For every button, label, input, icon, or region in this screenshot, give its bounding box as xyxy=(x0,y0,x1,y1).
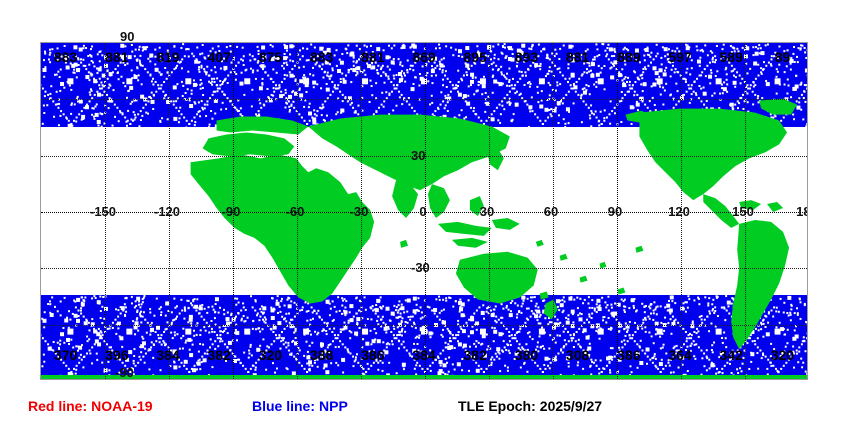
map-latitude-label: -30 xyxy=(411,261,430,274)
map-canvas[interactable]: -300306090120150180-150-120-90-6030-30 xyxy=(40,42,808,380)
map-longitude-label: -150 xyxy=(90,205,116,218)
swath-speckle-north xyxy=(41,43,807,127)
map-longitude-label: 150 xyxy=(732,205,754,218)
map-longitude-label: -60 xyxy=(286,205,305,218)
legend-epoch-value: 2025/9/27 xyxy=(540,398,602,414)
legend-item-tle-epoch: TLE Epoch:2025/9/27 xyxy=(458,396,602,416)
map-longitude-label: -30 xyxy=(350,205,369,218)
legend-red-value: NOAA-19 xyxy=(91,398,152,414)
gridline-latitude xyxy=(41,325,807,326)
map-longitude-label: 30 xyxy=(480,205,494,218)
satellite-ground-track-map: 90 xyxy=(0,0,850,425)
axis-label-lat-minus-90: -90 xyxy=(115,366,134,379)
map-longitude-label: 0 xyxy=(419,205,426,218)
map-longitude-label: 60 xyxy=(544,205,558,218)
gridline-latitude xyxy=(41,99,807,100)
legend-item-noaa19: Red line:NOAA-19 xyxy=(28,396,153,416)
legend-blue-value: NPP xyxy=(319,398,348,414)
legend-epoch-label: TLE Epoch: xyxy=(458,398,536,414)
map-inner: -300306090120150180-150-120-90-6030-30 xyxy=(41,43,807,379)
legend-blue-label: Blue line: xyxy=(252,398,315,414)
legend-item-npp: Blue line:NPP xyxy=(252,396,348,416)
swath-speckle-south xyxy=(41,295,807,375)
map-longitude-label: 180 xyxy=(796,205,807,218)
illumination-band-south xyxy=(41,295,807,375)
map-latitude-label: 30 xyxy=(411,149,425,162)
legend-red-label: Red line: xyxy=(28,398,87,414)
map-longitude-label: -90 xyxy=(222,205,241,218)
map-longitude-label: 90 xyxy=(608,205,622,218)
illumination-band-footer xyxy=(41,375,807,379)
map-longitude-label: -120 xyxy=(154,205,180,218)
illumination-band-north xyxy=(41,43,807,127)
map-longitude-label: 120 xyxy=(668,205,690,218)
legend: Red line:NOAA-19 Blue line:NPP TLE Epoch… xyxy=(0,396,850,420)
